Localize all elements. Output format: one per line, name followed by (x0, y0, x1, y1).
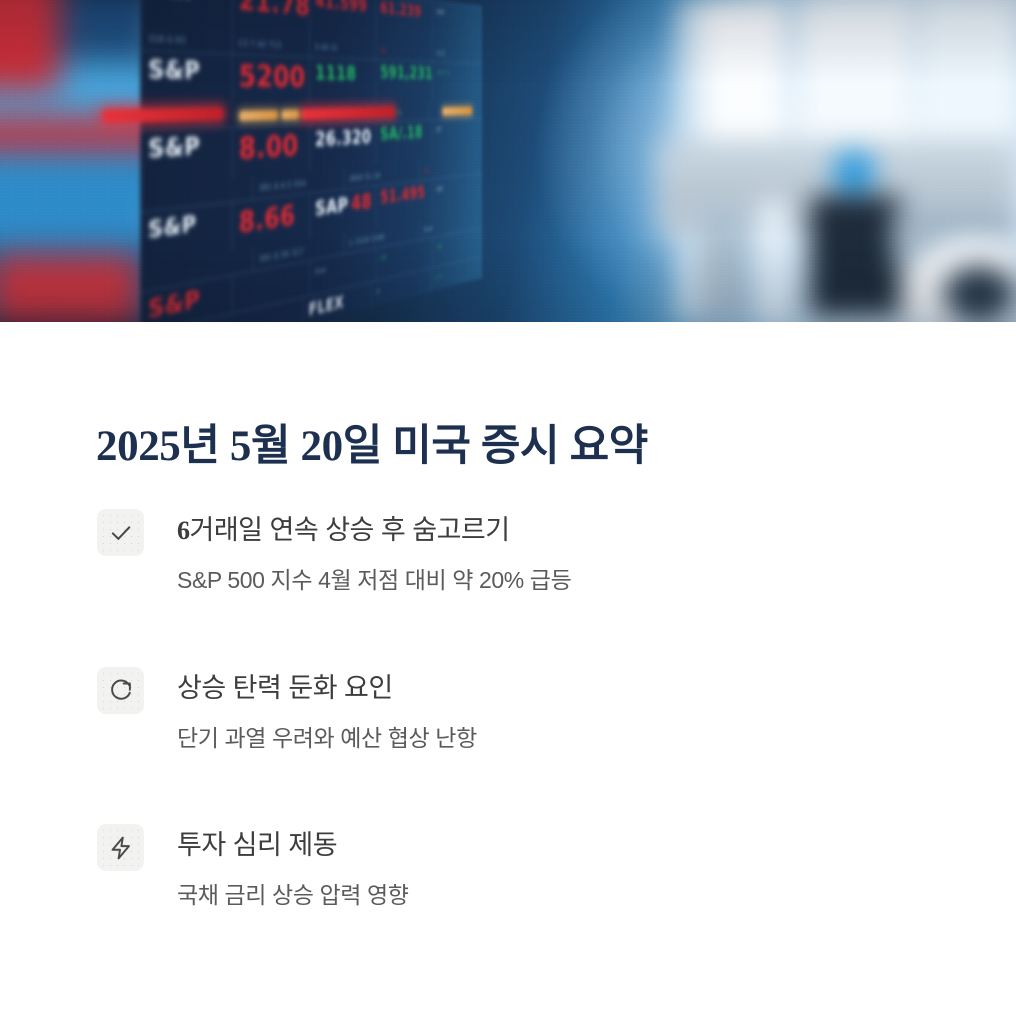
rotate-cw-icon (97, 667, 144, 714)
ticker-cell: S&P (140, 51, 232, 106)
ticker-cell: 26.320 (309, 122, 375, 171)
ticker-highlight (282, 110, 299, 120)
summary-card-page: S&P 21.78 41.599 61.239 SKF 318 0.93 C3 … (0, 0, 1016, 1024)
ticker-cell: 41.599 (309, 0, 375, 39)
list-item[interactable]: 상승 탄력 둔화 요인 단기 과열 우려와 예산 협상 난항 (97, 667, 957, 787)
list-item-title-rest: 상승 탄력 둔화 요인 (177, 673, 393, 703)
ticker-highlight (443, 107, 472, 115)
ticker-cell: 1118 (309, 57, 375, 103)
ticker-cell: 318 0.93 (140, 24, 232, 54)
content-area: 2025년 5월 20일 미국 증시 요약 6거래일 연속 상승 후 숨고르기 … (0, 322, 1016, 1024)
ticker-cell: 61.239 (375, 0, 432, 42)
list-item-subtitle: 국채 금리 상승 압력 영향 (177, 879, 409, 911)
ticker-cell: S&P (140, 128, 232, 186)
page-title: 2025년 5월 20일 미국 증시 요약 (96, 425, 648, 468)
ticker-cell: 8.00 (232, 125, 309, 178)
check-icon (97, 509, 144, 556)
ticker-cell: 5200 (232, 54, 309, 104)
list-item-title-rest: 거래일 연속 상승 후 숨고르기 (190, 515, 510, 545)
hero-office-background (660, 0, 1016, 322)
ticker-cell: C3 7.42 713 (232, 30, 309, 57)
list-item-subtitle: 단기 과열 우려와 예산 협상 난항 (177, 722, 477, 754)
ticker-cell: SA/.18 (375, 120, 432, 165)
hero-image: S&P 21.78 41.599 61.239 SKF 318 0.93 C3 … (0, 0, 1016, 322)
ticker-cell: 82 (375, 39, 432, 61)
list-item-title-rest: 투자 심리 제동 (177, 830, 337, 860)
list-item-title: 투자 심리 제동 (177, 824, 337, 867)
list-item-title: 6거래일 연속 상승 후 숨고르기 (177, 509, 510, 552)
ticker-cell: FT (432, 118, 482, 160)
zap-icon (97, 824, 144, 871)
list-item[interactable]: 6거래일 연속 상승 후 숨고르기 S&P 500 지수 4월 저점 대비 약 … (97, 509, 957, 629)
ticker-highlight (239, 110, 277, 121)
ticker-cell: 591,231 (375, 60, 432, 103)
ticker-cell: ALE (432, 42, 482, 63)
ticker-cell: 21.78 (232, 0, 309, 35)
ticker-cell: SKF (432, 1, 482, 46)
ticker-cell: 5.49 31 (309, 35, 375, 59)
ticker-board: S&P 21.78 41.599 61.239 SKF 318 0.93 C3 … (140, 0, 482, 322)
list-item-title: 상승 탄력 둔화 요인 (177, 667, 393, 710)
list-item-title-lead: 6 (177, 516, 190, 545)
list-item-subtitle: S&P 500 지수 4월 저점 대비 약 20% 급등 (177, 564, 571, 596)
ticker-cell: 201.4 (432, 62, 482, 102)
list-item[interactable]: 투자 심리 제동 국채 금리 상승 압력 영향 (97, 824, 957, 944)
